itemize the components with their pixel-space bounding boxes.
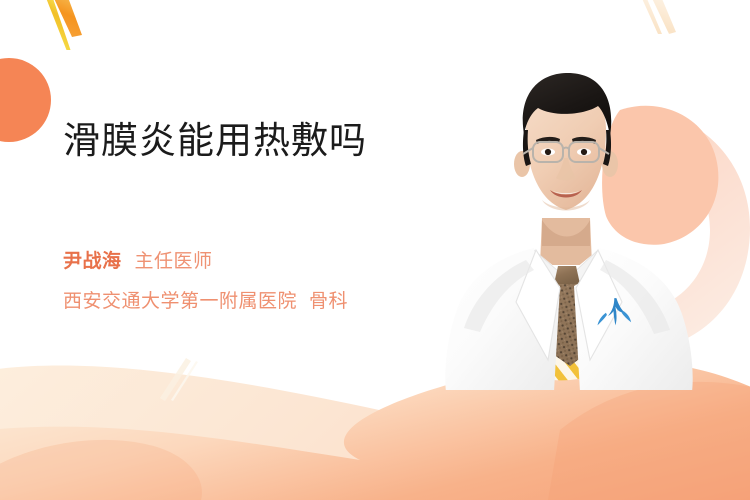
top-right-cream-stripe-1	[640, 0, 662, 34]
doctor-affiliation-row: 西安交通大学第一附属医院骨科	[63, 288, 348, 315]
top-right-cream-stripe-2	[650, 0, 676, 34]
doctor-name: 尹战海	[63, 251, 122, 272]
doctor-pupil-right	[581, 149, 587, 155]
doctor-department: 骨科	[309, 291, 348, 312]
health-video-cover-card: 滑膜炎能用热敷吗 尹战海主任医师 西安交通大学第一附属医院骨科	[0, 0, 750, 500]
bottom-right-wave-highlight	[548, 382, 750, 500]
doctor-hospital: 西安交通大学第一附属医院	[63, 291, 297, 312]
doctor-pupil-left	[545, 149, 551, 155]
doctor-name-row: 尹战海主任医师	[63, 248, 213, 275]
page-title: 滑膜炎能用热敷吗	[63, 118, 367, 164]
doctor-tie-knot	[554, 266, 580, 284]
doctor-professional-title: 主任医师	[135, 251, 213, 272]
cover-text-content: 滑膜炎能用热敷吗 尹战海主任医师 西安交通大学第一附属医院骨科	[0, 0, 450, 500]
doctor-portrait-photo	[430, 60, 750, 390]
